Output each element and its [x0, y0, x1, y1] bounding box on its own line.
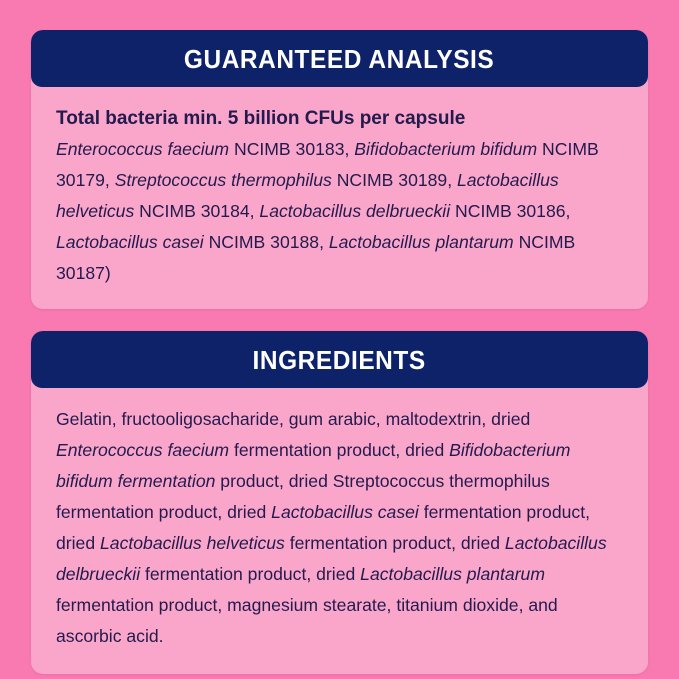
body-text: NCIMB 30188, — [204, 232, 329, 252]
body-text: NCIMB 30184, — [134, 201, 259, 221]
species-name: Lactobacillus delbrueckii — [259, 201, 450, 221]
species-name: Lactobacillus casei — [271, 502, 419, 522]
ingredients-card: INGREDIENTS Gelatin, fructooligosacharid… — [31, 331, 648, 674]
guaranteed-analysis-header: GUARANTEED ANALYSIS — [31, 30, 648, 87]
species-name: Streptococcus thermophilus — [115, 170, 332, 190]
body-text: fermentation product, magnesium stearate… — [56, 595, 558, 646]
species-name: Lactobacillus plantarum — [360, 564, 545, 584]
ingredients-header: INGREDIENTS — [31, 331, 648, 388]
species-name: Lactobacillus plantarum — [329, 232, 514, 252]
species-name: Lactobacillus helveticus — [100, 533, 285, 553]
species-name: Lactobacillus casei — [56, 232, 204, 252]
body-text: Gelatin, fructooligosacharide, gum arabi… — [56, 409, 530, 429]
species-name: Enterococcus faecium — [56, 139, 229, 159]
body-text: fermentation product, dried — [140, 564, 360, 584]
species-name: Enterococcus faecium — [56, 440, 229, 460]
guaranteed-analysis-title: GUARANTEED ANALYSIS — [184, 46, 494, 72]
body-text: NCIMB 30183, — [229, 139, 354, 159]
supplement-facts-panel: GUARANTEED ANALYSIS Total bacteria min. … — [0, 0, 679, 679]
total-bacteria-statement: Total bacteria min. 5 billion CFUs per c… — [56, 103, 623, 134]
species-name: Bifidobacterium bifidum — [354, 139, 537, 159]
ingredients-list: Gelatin, fructooligosacharide, gum arabi… — [56, 404, 623, 652]
ingredients-body: Gelatin, fructooligosacharide, gum arabi… — [31, 388, 648, 674]
guaranteed-analysis-body: Total bacteria min. 5 billion CFUs per c… — [31, 87, 648, 309]
ingredients-title: INGREDIENTS — [253, 347, 426, 373]
guaranteed-analysis-card: GUARANTEED ANALYSIS Total bacteria min. … — [31, 30, 648, 309]
body-text: fermentation product, dried — [285, 533, 505, 553]
body-text: NCIMB 30189, — [332, 170, 457, 190]
body-text: fermentation product, dried — [229, 440, 449, 460]
body-text: NCIMB 30186, — [450, 201, 570, 221]
guaranteed-analysis-strain-list: Enterococcus faecium NCIMB 30183, Bifido… — [56, 134, 623, 289]
